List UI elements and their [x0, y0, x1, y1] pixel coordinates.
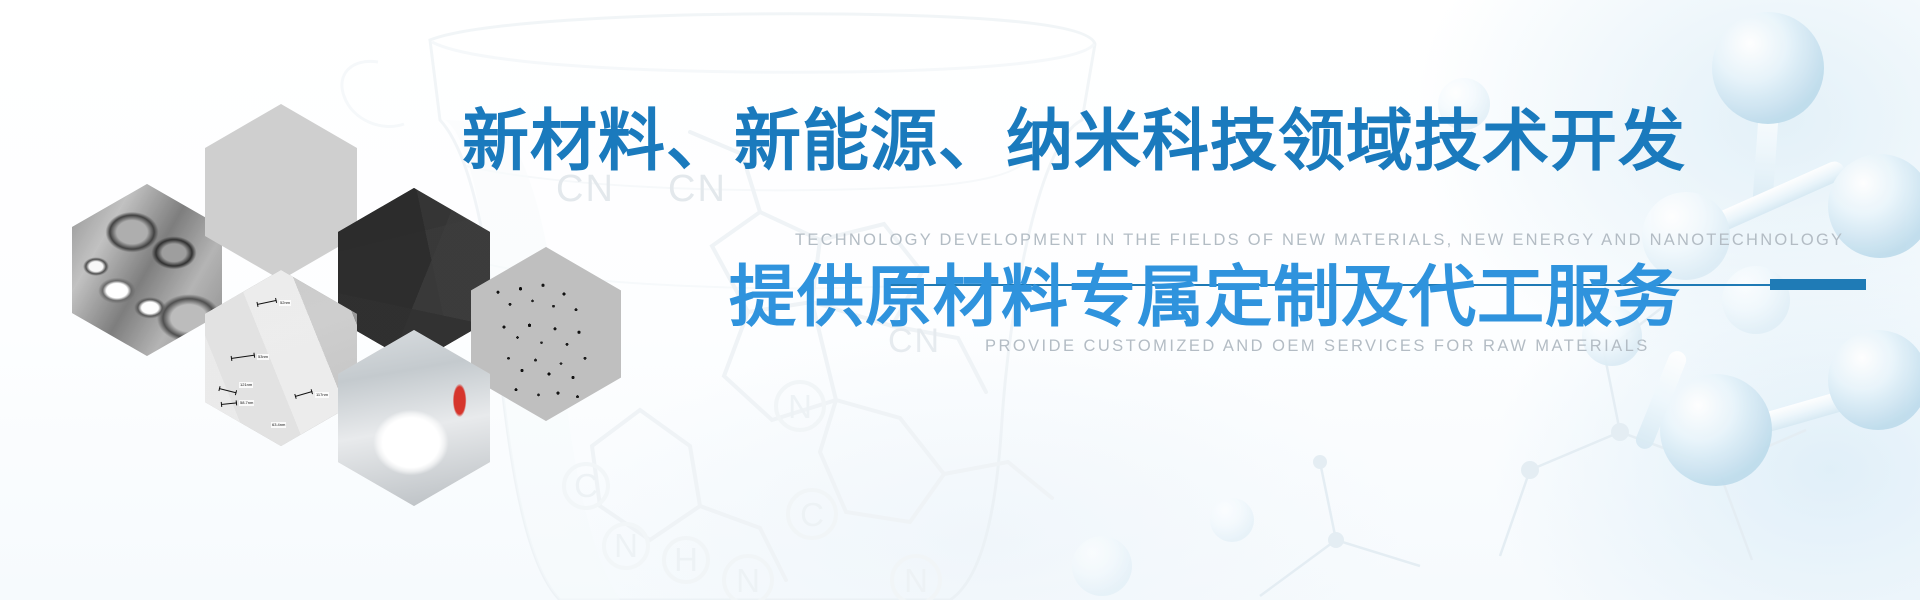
headline-primary: 新材料、新能源、纳米科技领域技术开发 — [462, 108, 1686, 175]
hero-banner: N C N H N C N — [0, 0, 1920, 600]
subtitle-secondary: PROVIDE CUSTOMIZED AND OEM SERVICES FOR … — [985, 337, 1650, 356]
divider-accent-bar — [1770, 279, 1866, 290]
headline-secondary: 提供原材料专属定制及代工服务 — [729, 264, 1681, 331]
subtitle-primary: TECHNOLOGY DEVELOPMENT IN THE FIELDS OF … — [795, 231, 1844, 250]
banner-text-block: 新材料、新能源、纳米科技领域技术开发 TECHNOLOGY DEVELOPMEN… — [0, 0, 1920, 600]
